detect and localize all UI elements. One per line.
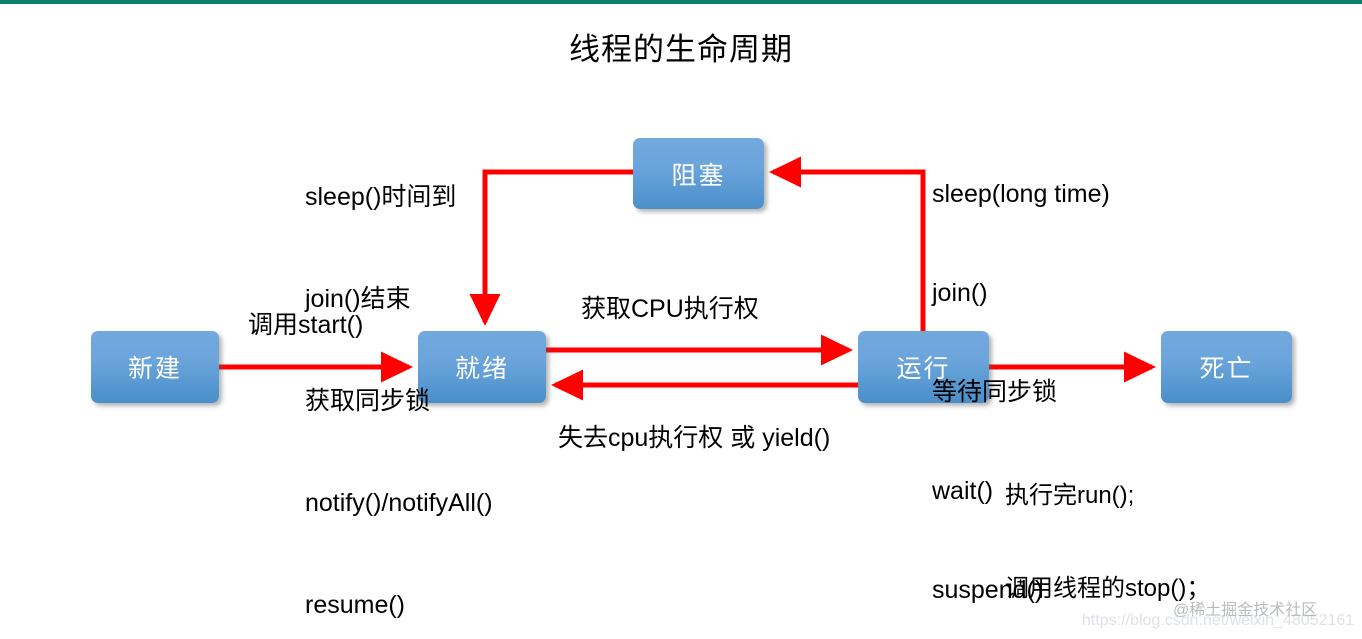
edge-label-line: notify()/notifyAll() — [305, 486, 493, 520]
edge-label-line: resume() — [305, 588, 493, 622]
edge-label-line: join() — [932, 277, 1110, 310]
arrow-running-to-blocked — [773, 172, 923, 331]
edge-label-line: 等待同步锁 — [932, 376, 1110, 409]
edge-label-acquire-cpu: 获取CPU执行权 — [581, 292, 759, 326]
edge-label-line: sleep()时间到 — [305, 180, 493, 214]
state-box-dead[interactable]: 死亡 — [1161, 331, 1292, 403]
edge-label-blocked-to-ready: sleep()时间到 join()结束 获取同步锁 notify()/notif… — [305, 112, 493, 639]
edge-label-line: 执行完run(); — [1005, 480, 1218, 511]
diagram-canvas: 线程的生命周期 新建 就绪 阻塞 运行 死亡 调用start() 获取CPU执行… — [0, 0, 1362, 639]
state-box-new[interactable]: 新建 — [91, 331, 219, 403]
edge-label-lose-cpu: 失去cpu执行权 或 yield() — [558, 421, 830, 455]
edge-label-line: 获取同步锁 — [305, 384, 493, 418]
edge-label-line: sleep(long time) — [932, 178, 1110, 211]
state-box-blocked[interactable]: 阻塞 — [633, 138, 764, 209]
edge-label-line: join()结束 — [305, 282, 493, 316]
watermark-brand: @稀土掘金技术社区 — [1173, 596, 1317, 620]
